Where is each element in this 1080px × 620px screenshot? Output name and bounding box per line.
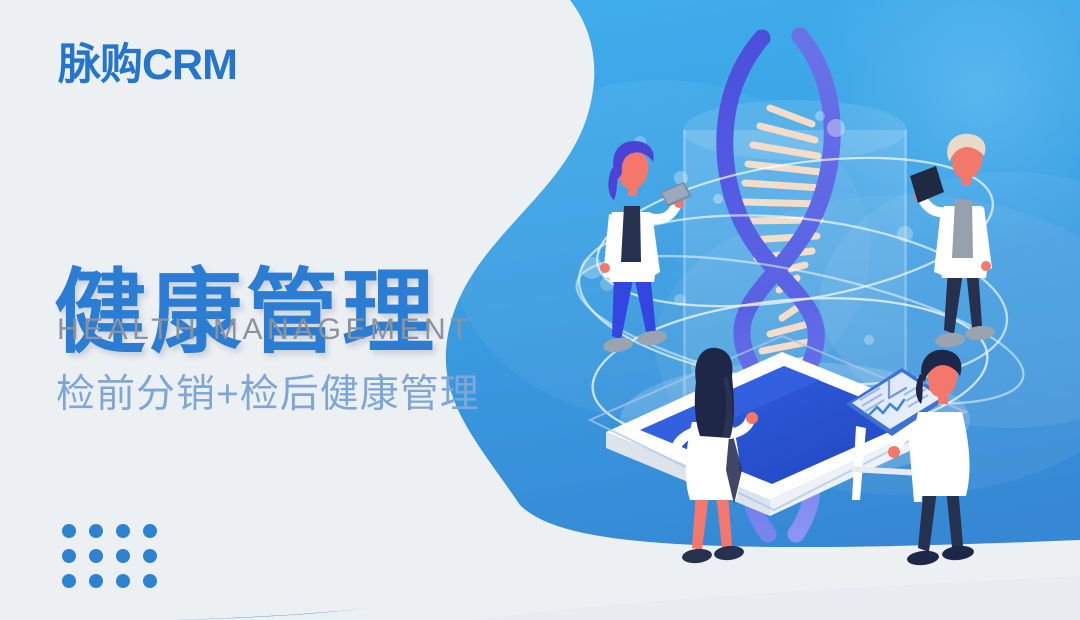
health-management-banner: 脉购CRM 健康管理 HEALTH MANAGEMENT 检前分销+检后健康管理 <box>0 0 1080 620</box>
dot <box>62 549 76 563</box>
dot-grid-decoration <box>62 524 157 588</box>
dot <box>116 524 130 538</box>
dot <box>143 524 157 538</box>
dot <box>116 574 130 588</box>
dot <box>143 574 157 588</box>
subtitle-english: HEALTH MANAGEMENT <box>57 315 473 345</box>
dot <box>143 549 157 563</box>
dot <box>62 574 76 588</box>
dot <box>89 549 103 563</box>
dot <box>62 524 76 538</box>
brand-logo[interactable]: 脉购CRM <box>58 44 237 87</box>
tagline: 检前分销+检后健康管理 <box>56 375 480 414</box>
dot <box>116 549 130 563</box>
doctor-male-tablet <box>910 134 996 349</box>
dot <box>89 524 103 538</box>
dot <box>89 574 103 588</box>
